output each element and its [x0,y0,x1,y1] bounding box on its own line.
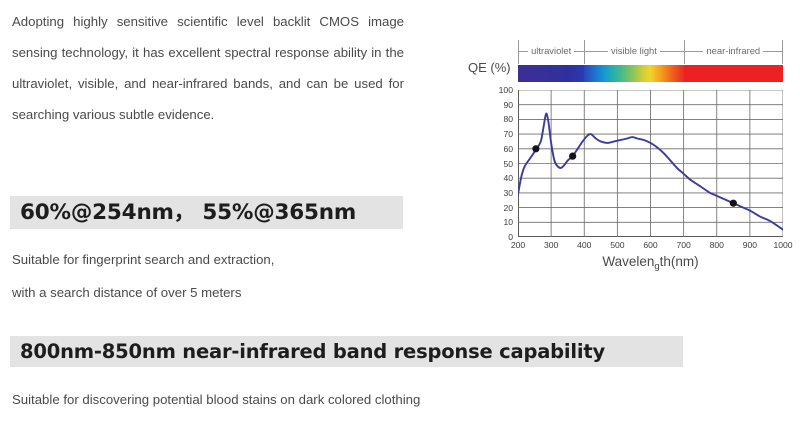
x-tick-200: 200 [511,241,525,250]
chart-x-tick-labels: 2003004005006007008009001000 [518,237,798,253]
x-tick-500: 500 [610,241,624,250]
axis-title-glyph-g: g [654,261,659,272]
band-label-near-infrared: near-infrared [684,38,783,64]
y-tick-10: 10 [503,218,513,227]
y-tick-40: 40 [503,174,513,183]
x-tick-300: 300 [544,241,558,250]
chart-y-tick-labels: 0102030405060708090100 [455,90,513,237]
x-tick-600: 600 [643,241,657,250]
band-label-ultraviolet: ultraviolet [518,38,584,64]
band-separator-tick [684,40,685,64]
chart-x-axis-title: Wavelength(nm) [518,254,783,272]
y-tick-80: 80 [503,115,513,124]
band-separator-tick [584,40,585,64]
headline-nir-response: 800nm-850nm near-infrared band response … [10,336,683,367]
nir-response-note-line-1: Suitable for discovering potential blood… [12,390,420,410]
spectrum-color-bar [518,65,783,82]
chart-canvas [518,90,783,237]
y-tick-90: 90 [503,101,513,110]
data-marker-365nm [569,153,576,160]
y-tick-70: 70 [503,130,513,139]
product-spec-page: Adopting highly sensitive scientific lev… [0,0,800,425]
y-tick-20: 20 [503,204,513,213]
x-tick-400: 400 [577,241,591,250]
colorbar-visible [584,65,683,82]
colorbar-near-infrared [684,65,783,82]
intro-paragraph: Adopting highly sensitive scientific lev… [12,6,404,130]
x-tick-900: 900 [743,241,757,250]
band-label-text: ultraviolet [528,46,574,55]
band-label-text: near-infrared [703,46,763,55]
uv-response-note-line-2: with a search distance of over 5 meters [12,283,241,303]
uv-response-note-line-1: Suitable for fingerprint search and extr… [12,250,274,270]
x-tick-1000: 1000 [773,241,792,250]
y-tick-50: 50 [503,160,513,169]
x-tick-800: 800 [710,241,724,250]
band-separator-tick [518,40,519,64]
band-label-text: visible light [608,46,660,55]
data-marker-850nm [730,200,737,207]
y-tick-30: 30 [503,189,513,198]
colorbar-ultraviolet [518,65,584,82]
spectral-response-chart: QE (%) ultravioletvisible lightnear-infr… [455,36,800,281]
chart-y-axis-title: QE (%) [468,60,511,75]
spectral-band-legend: ultravioletvisible lightnear-infrared [518,38,783,64]
x-tick-700: 700 [676,241,690,250]
band-label-visible-light: visible light [584,38,683,64]
intro-paragraph-block: Adopting highly sensitive scientific lev… [12,6,404,130]
data-marker-254nm [532,145,539,152]
headline-uv-response: 60%@254nm， 55%@365nm [10,196,403,229]
y-tick-60: 60 [503,145,513,154]
y-tick-100: 100 [499,86,513,95]
chart-plot-area [518,90,783,237]
band-separator-tick [782,40,783,64]
